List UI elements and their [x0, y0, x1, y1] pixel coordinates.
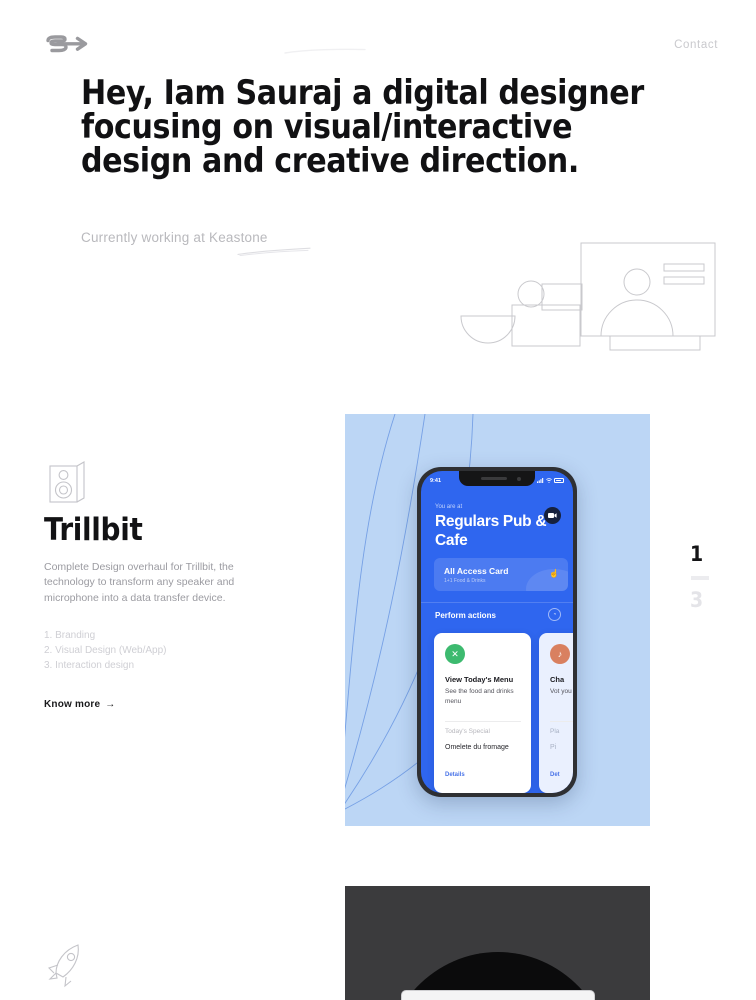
- card-glow: [526, 569, 568, 591]
- list-item: 2. Visual Design (Web/App): [44, 643, 254, 658]
- nav-decorative-stroke: [284, 48, 366, 54]
- project-title: Trillbit: [44, 512, 143, 548]
- all-access-card[interactable]: All Access Card 1+1 Food & Drinks ☝: [434, 558, 568, 591]
- tile-meta-value: Omelete du fromage: [445, 744, 527, 751]
- rocket-icon: [44, 940, 90, 988]
- phone-notch: [459, 471, 535, 486]
- tile-heading: Cha: [550, 675, 573, 684]
- subtitle-underline-stroke: [236, 246, 312, 256]
- hand-pointer-icon: ☝: [549, 569, 559, 578]
- venue-name: Regulars Pub & Cafe: [435, 513, 560, 550]
- tile-body: Vot you: [550, 687, 573, 697]
- perform-actions-label: Perform actions: [435, 611, 496, 620]
- battery-icon: [554, 478, 564, 483]
- wifi-icon: [546, 478, 552, 483]
- laptop-base: [401, 990, 595, 1000]
- status-time: 9:41: [430, 478, 441, 484]
- tile-divider: [550, 721, 573, 722]
- action-tile-music[interactable]: ♪ Cha Vot you Pla Pi Det: [539, 633, 573, 793]
- pagination-total: 3: [690, 589, 720, 611]
- tile-meta-value: Pi: [550, 744, 573, 751]
- actions-circle-icon: ◔: [548, 608, 561, 621]
- know-more-label: Know more: [44, 699, 100, 710]
- music-note-icon: ♪: [550, 644, 570, 664]
- project-scope-list: 1. Branding 2. Visual Design (Web/App) 3…: [44, 628, 254, 673]
- venue-eyebrow: You are at: [435, 504, 462, 510]
- camera-icon: [548, 512, 557, 519]
- phone-screen: 9:41: [421, 471, 573, 793]
- tile-meta-label: Today's Special: [445, 728, 490, 735]
- phone-mockup: 9:41: [417, 467, 577, 797]
- list-item: 1. Branding: [44, 628, 254, 643]
- action-tile-menu[interactable]: ✕ View Today's Menu See the food and dri…: [434, 633, 531, 793]
- know-more-link[interactable]: Know more →: [44, 699, 115, 710]
- s-arrow-logo[interactable]: [44, 32, 100, 56]
- tile-meta-label: Pla: [550, 728, 559, 735]
- project-showcase-panel[interactable]: 9:41: [345, 414, 650, 826]
- project-pagination[interactable]: 1 3: [690, 543, 720, 611]
- camera-button[interactable]: [544, 507, 561, 524]
- desk-workspace-line-illustration: [455, 238, 720, 353]
- tile-heading: View Today's Menu: [445, 675, 525, 684]
- site-header: Contact: [0, 0, 756, 70]
- front-camera-icon: [517, 477, 521, 481]
- list-item: 3. Interaction design: [44, 658, 254, 673]
- section-divider: [421, 602, 573, 603]
- speaker-icon: [44, 458, 90, 508]
- portfolio-page: Contact Hey, Iam Sauraj a digital design…: [0, 0, 756, 1000]
- card-title: All Access Card: [444, 566, 508, 576]
- pagination-current: 1: [690, 543, 720, 565]
- card-subtitle: 1+1 Food & Drinks: [444, 578, 486, 584]
- hero-title: Hey, Iam Sauraj a digital designer focus…: [81, 76, 681, 178]
- cutlery-icon: ✕: [445, 644, 465, 664]
- project2-showcase-panel[interactable]: [345, 886, 650, 1000]
- s-arrow-logo-icon: [44, 33, 96, 55]
- signal-icon: [537, 478, 544, 483]
- arrow-right-icon: →: [105, 699, 115, 710]
- nav-contact-link[interactable]: Contact: [674, 39, 718, 51]
- tile-divider: [445, 721, 521, 722]
- tile-details-link[interactable]: Details: [445, 772, 465, 778]
- tile-body: See the food and drinks menu: [445, 687, 521, 706]
- project-description: Complete Design overhaul for Trillbit, t…: [44, 560, 272, 606]
- hero-subtitle: Currently working at Keastone: [81, 230, 268, 245]
- tile-details-link[interactable]: Det: [550, 772, 560, 778]
- earpiece-speaker-icon: [481, 477, 507, 480]
- pagination-divider: [691, 576, 709, 580]
- status-icons: [537, 478, 564, 483]
